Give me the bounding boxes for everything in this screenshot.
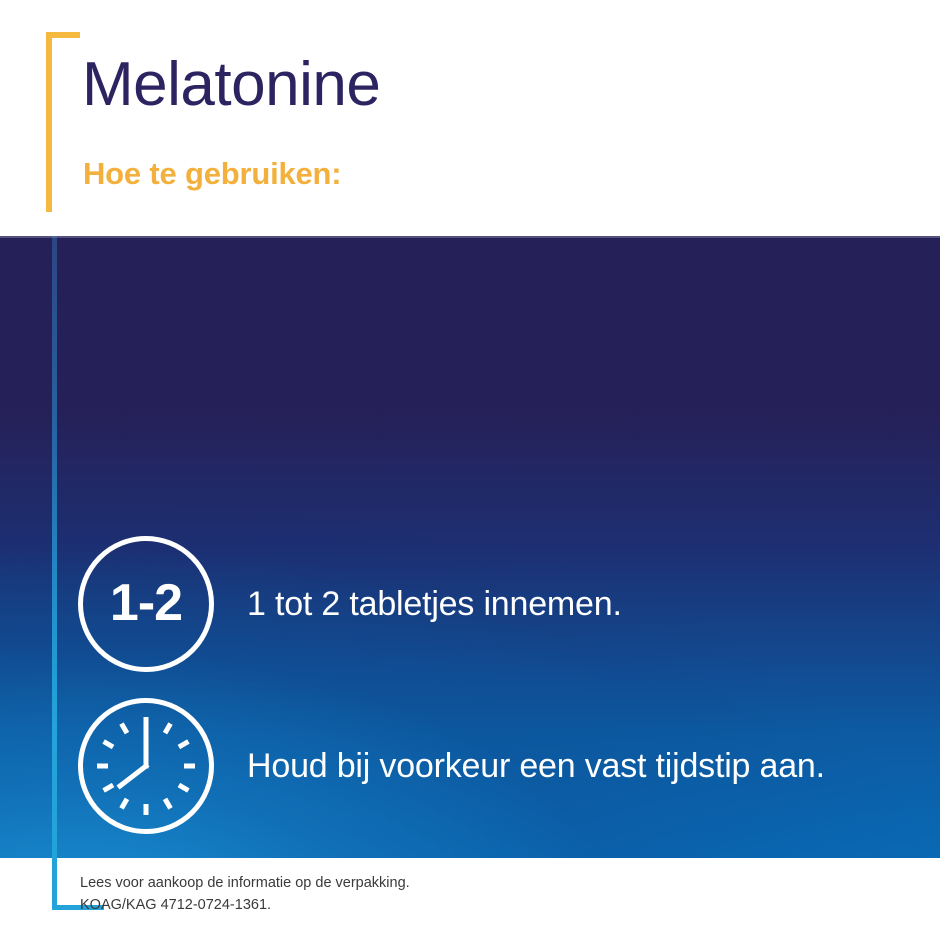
dose-1-2-icon: 1-2 <box>78 536 214 672</box>
dose-icon-label: 1-2 <box>110 577 182 629</box>
poster-root: Melatonine Hoe te gebruiken: 1-2 1 tot 2… <box>0 0 940 940</box>
disclaimer-line-1: Lees voor aankoop de informatie op de ve… <box>80 872 410 894</box>
page-subtitle: Hoe te gebruiken: <box>83 157 341 191</box>
clock-icon <box>78 698 214 834</box>
list-item: 1-2 1 tot 2 tabletjes innemen. <box>78 536 622 672</box>
steps-list: 1-2 1 tot 2 tabletjes innemen. <box>0 236 940 858</box>
header-section: Melatonine Hoe te gebruiken: <box>0 0 940 236</box>
list-item: Houd bij voorkeur een vast tijdstip aan. <box>78 698 825 834</box>
instructions-panel: 1-2 1 tot 2 tabletjes innemen. <box>0 236 940 858</box>
page-title: Melatonine <box>82 52 380 117</box>
step-text-dose: 1 tot 2 tabletjes innemen. <box>247 585 622 624</box>
disclaimer-line-2: KOAG/KAG 4712-0724-1361. <box>80 894 410 916</box>
footer-section: Lees voor aankoop de informatie op de ve… <box>0 858 940 940</box>
step-text-timing: Houd bij voorkeur een vast tijdstip aan. <box>247 747 825 786</box>
header-bracket-decoration <box>46 32 80 212</box>
clock-icon-glyph <box>91 711 201 821</box>
disclaimer-text: Lees voor aankoop de informatie op de ve… <box>80 872 410 917</box>
